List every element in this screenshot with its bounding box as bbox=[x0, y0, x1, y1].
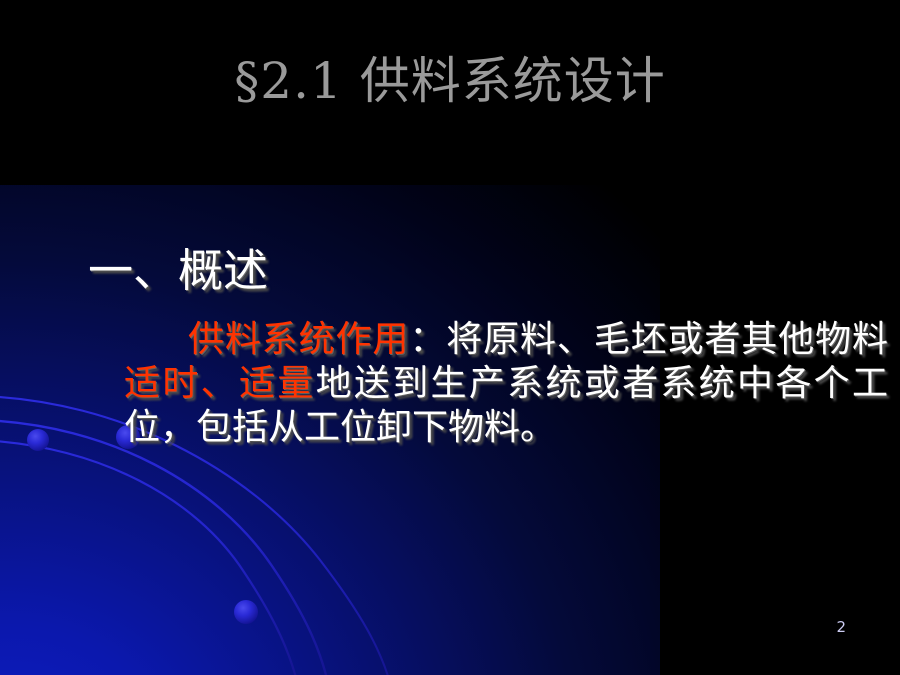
slide-canvas: §2.1 供料系统设计 一、概述 供料系统作用：将原料、毛坯或者其他物料适时、适… bbox=[0, 0, 900, 675]
body-paragraph: 供料系统作用：将原料、毛坯或者其他物料适时、适量地送到生产系统或者系统中各个工位… bbox=[124, 318, 888, 450]
page-number: 2 bbox=[836, 618, 846, 636]
arc-line-middle bbox=[0, 420, 330, 675]
slide-title: §2.1 供料系统设计 bbox=[0, 54, 900, 109]
body-highlight-term-2: 适时、适量 bbox=[124, 363, 316, 404]
section-heading: 一、概述 bbox=[88, 247, 268, 294]
body-highlight-term-1: 供料系统作用 bbox=[188, 319, 409, 360]
decoration-sphere-left bbox=[27, 429, 49, 451]
decoration-sphere-lower bbox=[234, 600, 258, 624]
body-plain-text-1: ：将原料、毛坯或者其他物料 bbox=[409, 319, 888, 360]
arc-line-inner bbox=[0, 440, 300, 675]
